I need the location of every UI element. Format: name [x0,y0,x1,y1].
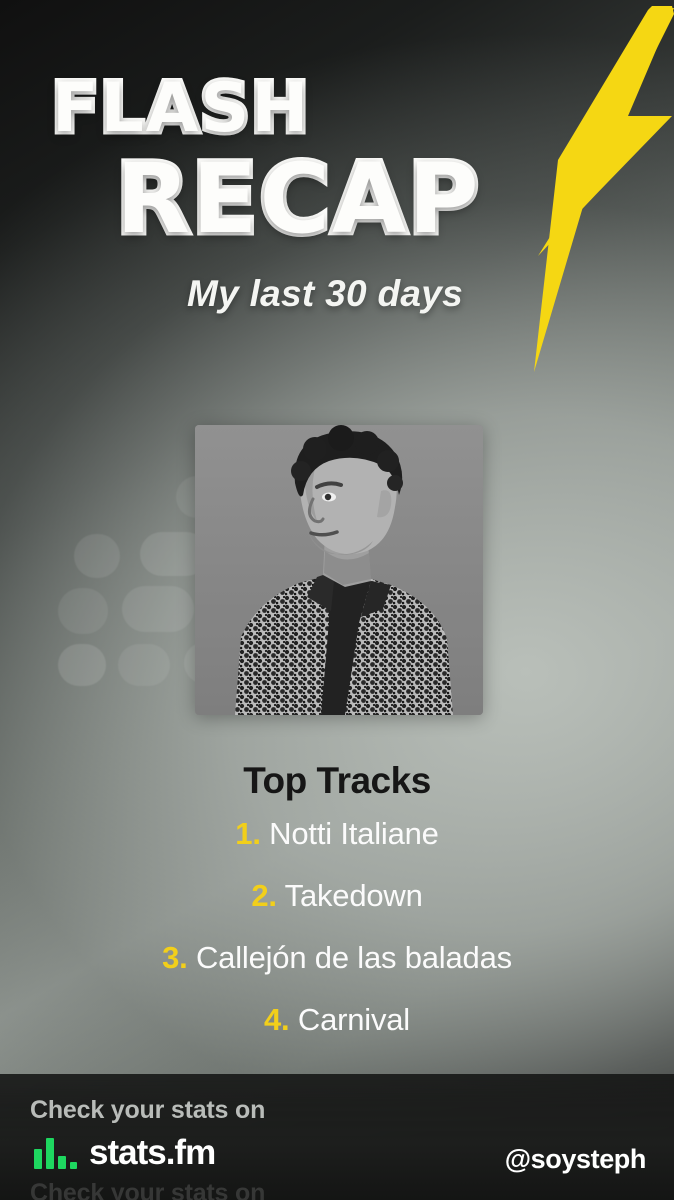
bar-chart-logo-icon [34,1137,77,1169]
logo-dot-icon [70,1162,77,1169]
pill-shape [58,588,108,634]
track-number: 1. [235,816,260,851]
logo-bar-2 [46,1138,54,1169]
album-artwork [195,425,483,715]
pill-shape [122,586,194,632]
subtitle: My last 30 days [0,273,674,315]
logo-bar-3 [58,1156,66,1169]
header: FLASH RECAP My last 30 days [0,0,674,315]
footer-bar: Check your stats on stats.fm @soysteph C… [0,1074,674,1200]
track-number: 3. [162,940,187,975]
stats-fm-brand[interactable]: stats.fm [34,1136,215,1169]
track-row: 2. Takedown [0,878,674,914]
story-canvas: FLASH RECAP My last 30 days [0,0,674,1200]
track-name: Takedown [285,878,423,913]
track-row: 4. Carnival [0,1002,674,1038]
title-recap: RECAP [0,155,674,243]
pill-shape [58,644,106,686]
track-number: 2. [251,878,276,913]
top-tracks-section: Top Tracks 1. Notti Italiane 2. Takedown… [0,760,674,1038]
footer-ghost-text: Check your stats on [30,1179,265,1200]
pill-shape [74,534,120,578]
top-tracks-title: Top Tracks [0,760,674,802]
brand-name: stats.fm [89,1136,215,1169]
track-row: 1. Notti Italiane [0,816,674,852]
user-handle: @soysteph [505,1144,646,1175]
track-row: 3. Callejón de las baladas [0,940,674,976]
logo-bar-1 [34,1149,42,1169]
track-name: Callejón de las baladas [196,940,512,975]
track-number: 4. [264,1002,289,1037]
track-name: Carnival [298,1002,410,1037]
title-flash: FLASH [0,78,674,141]
track-name: Notti Italiane [269,816,439,851]
pill-shape [118,644,170,686]
footer-caption: Check your stats on [30,1096,265,1125]
